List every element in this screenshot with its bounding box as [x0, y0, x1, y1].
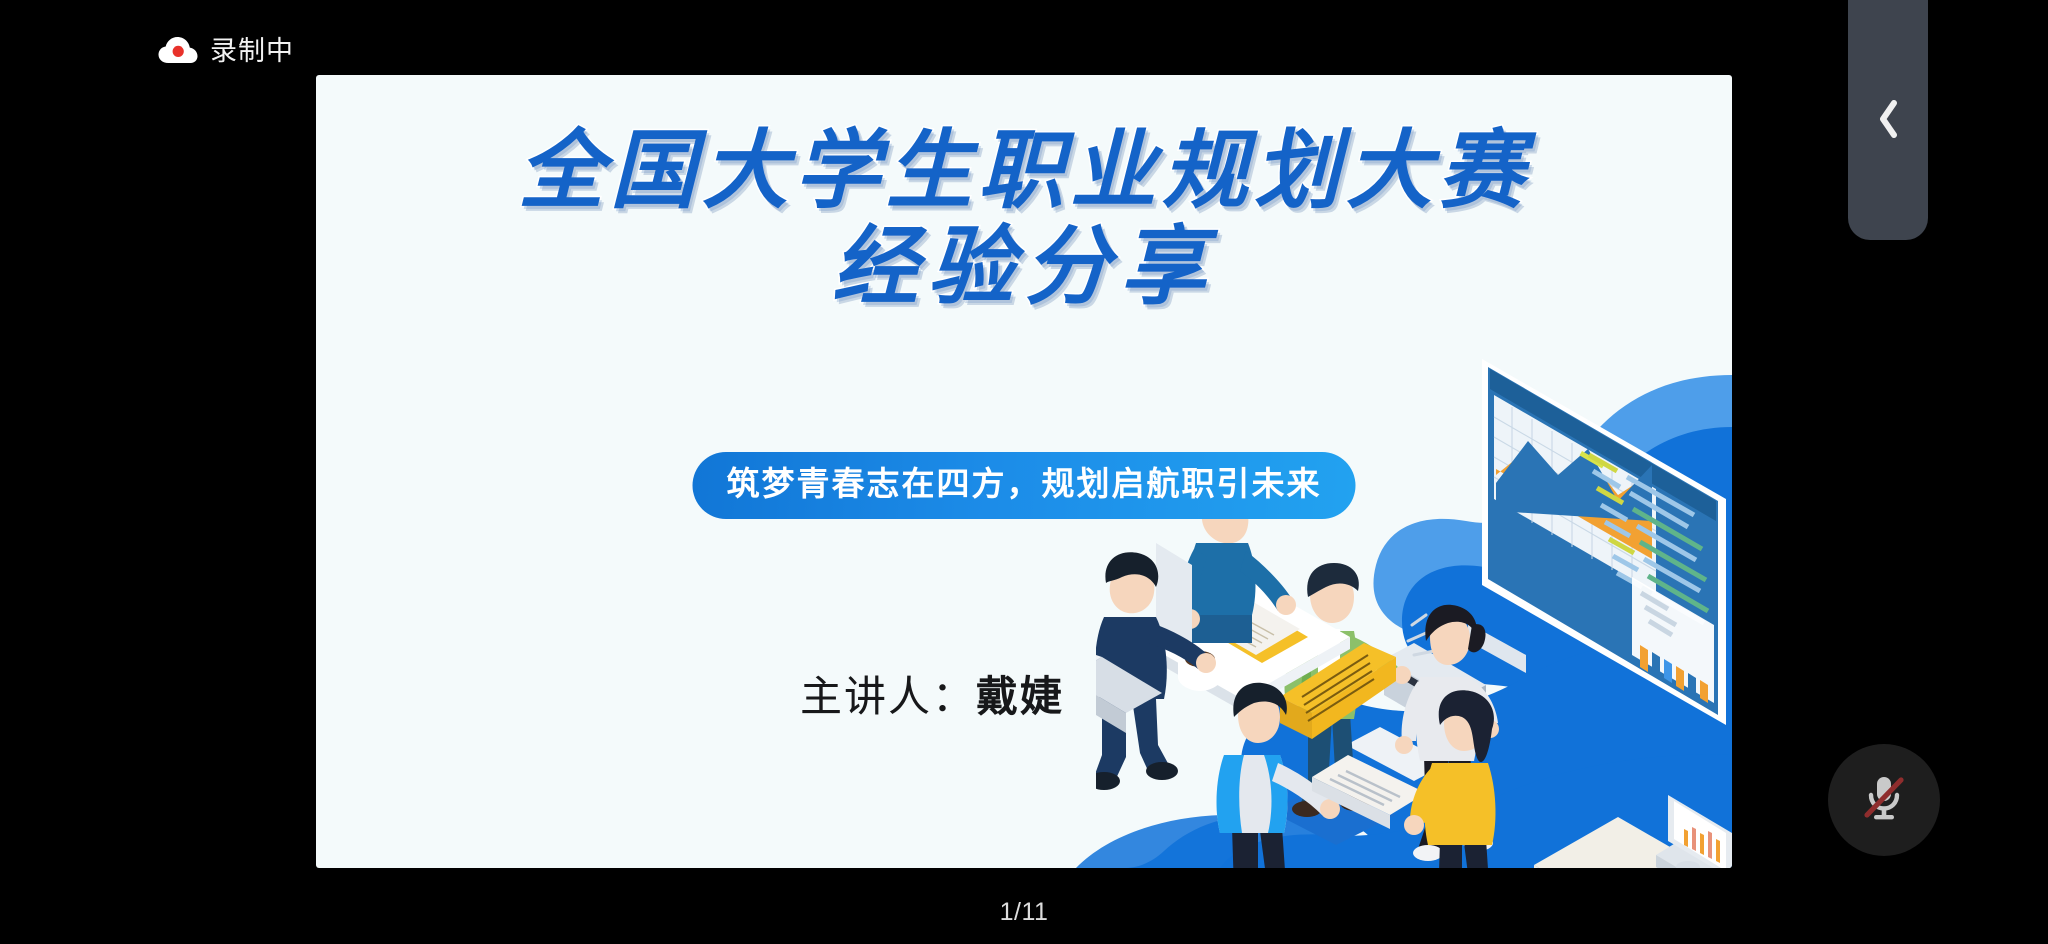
speaker-name: 戴婕: [976, 672, 1064, 721]
slide-subtitle-banner: 筑梦青春志在四方，规划启航职引未来: [693, 452, 1356, 519]
slide-canvas[interactable]: 全国大学生职业规划大赛 经验分享 筑梦青春志在四方，规划启航职引未来 主讲人：戴…: [316, 75, 1732, 868]
speaker-label: 主讲人：: [800, 672, 976, 721]
microphone-mute-button[interactable]: [1828, 744, 1940, 856]
laptop-report: [1534, 795, 1732, 868]
screen-root: 录制中 1/11: [0, 0, 2048, 944]
career-planning-illustration: [1096, 325, 1732, 868]
page-indicator: 1/11: [0, 898, 2048, 927]
recording-label: 录制中: [210, 38, 294, 65]
cloud-record-icon: [158, 36, 198, 66]
speaker-line: 主讲人：戴婕: [512, 663, 1352, 724]
chevron-left-icon: [1877, 99, 1899, 139]
collapse-panel-handle[interactable]: [1848, 0, 1928, 240]
recording-indicator: 录制中: [158, 36, 294, 66]
microphone-muted-icon: [1854, 768, 1914, 833]
